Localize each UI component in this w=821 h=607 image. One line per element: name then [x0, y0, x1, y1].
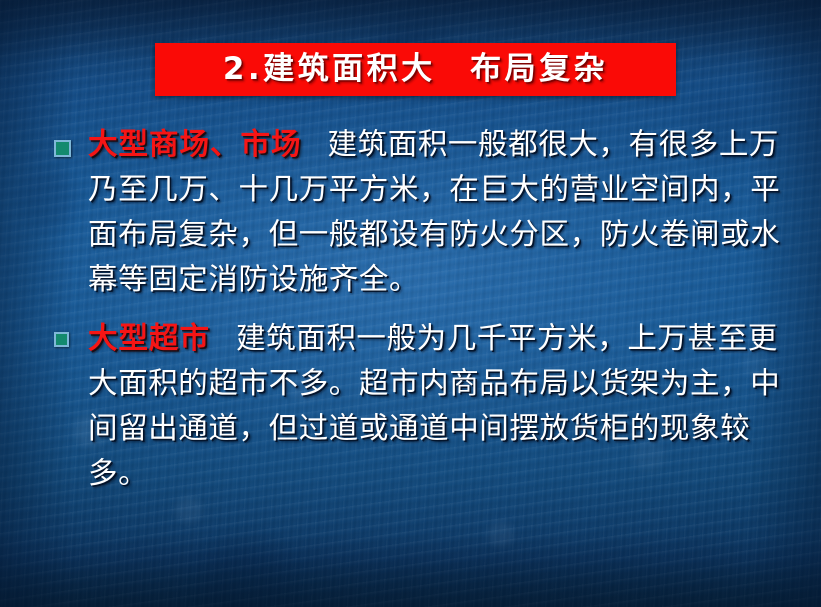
slide-body: 大型商场、市场建筑面积一般都很大，有很多上万乃至几万、十几万平方米，在巨大的营业… — [0, 122, 821, 496]
bullet-lead-2: 大型超市 — [88, 321, 210, 355]
bullet-text-2: 大型超市建筑面积一般为几千平方米，上万甚至更大面积的超市不多。超市内商品布局以货… — [88, 316, 797, 496]
square-bullet-icon — [54, 332, 69, 347]
presentation-slide: 2.建筑面积大 布局复杂 大型商场、市场建筑面积一般都很大，有很多上万乃至几万、… — [0, 0, 821, 607]
slide-title: 2.建筑面积大 布局复杂 — [223, 54, 608, 85]
title-banner: 2.建筑面积大 布局复杂 — [155, 43, 676, 96]
bullet-lead-1: 大型商场、市场 — [88, 127, 302, 161]
bullet-paragraph-1: 大型商场、市场建筑面积一般都很大，有很多上万乃至几万、十几万平方米，在巨大的营业… — [0, 122, 821, 302]
bullet-paragraph-2: 大型超市建筑面积一般为几千平方米，上万甚至更大面积的超市不多。超市内商品布局以货… — [0, 316, 821, 496]
square-bullet-icon — [54, 140, 71, 157]
bullet-text-1: 大型商场、市场建筑面积一般都很大，有很多上万乃至几万、十几万平方米，在巨大的营业… — [88, 122, 797, 302]
